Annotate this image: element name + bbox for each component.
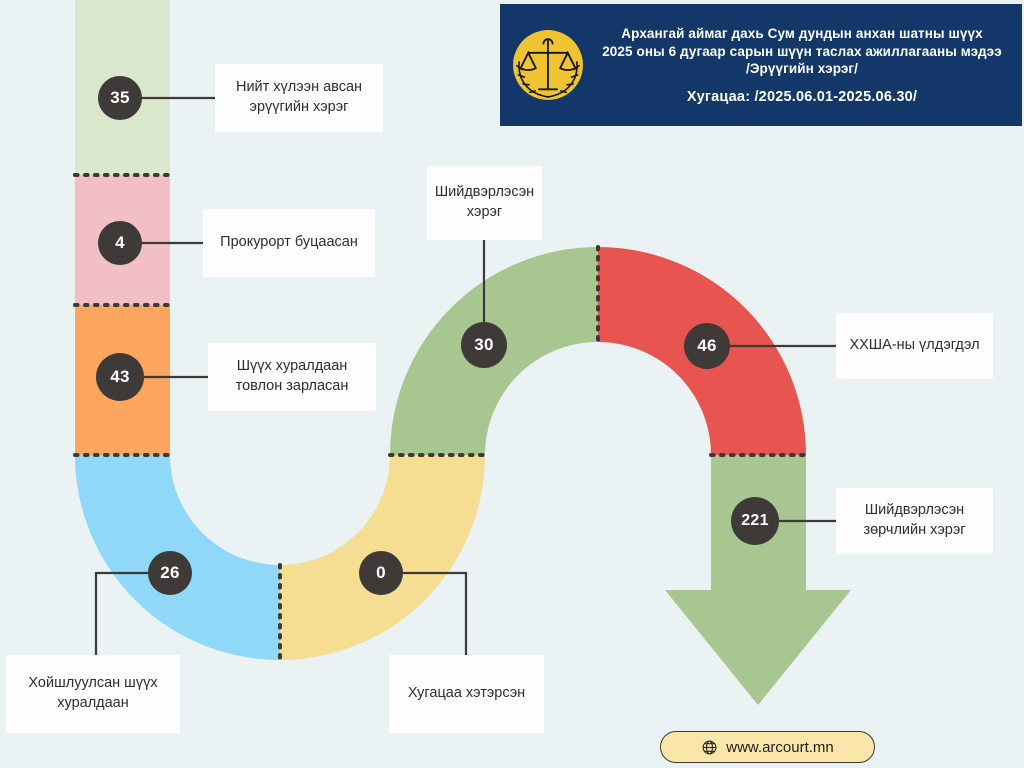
value-bubble-violation: 221: [731, 497, 779, 545]
value-bubble-postponed: 26: [148, 551, 192, 595]
infographic-canvas: Архангай аймаг дахь Сум дундын анхан шат…: [0, 0, 1024, 768]
value-bubble-received: 35: [98, 76, 142, 120]
value-bubble-overdue: 0: [359, 551, 403, 595]
value-bubble-remaining: 46: [684, 323, 730, 369]
value-bubble-resolved: 30: [461, 322, 507, 368]
callout-connectors: [0, 0, 1024, 768]
value-bubble-scheduled: 43: [96, 353, 144, 401]
connector-overdue: [400, 573, 466, 655]
value-bubble-returned: 4: [98, 221, 142, 265]
